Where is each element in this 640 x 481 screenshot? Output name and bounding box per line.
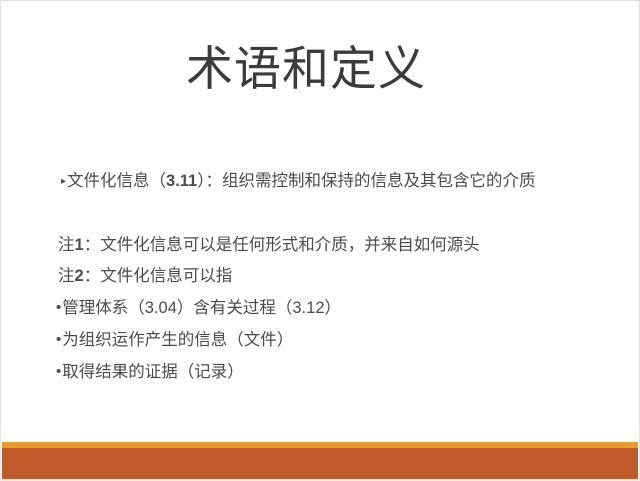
triangle-bullet-icon: ▸ (61, 176, 66, 187)
note-2-text: 文件化信息可以指 (100, 267, 232, 285)
sub-bullet-line-2: •为组织运作产生的信息（文件） (56, 332, 293, 349)
sub-bullet-1-text: 管理体系（3.04）含有关过程（3.12） (62, 299, 341, 317)
note-1-label-prefix: 注 (58, 236, 75, 254)
note-1-label-suffix: ： (84, 236, 101, 254)
note-1-number: 1 (75, 236, 84, 254)
note-line-2: 注2：文件化信息可以指 (57, 268, 232, 285)
footer-accent-band-dark (2, 448, 638, 479)
slide-canvas: 术语和定义 ▸文件化信息（3.11）：组织需控制和保持的信息及其包含它的介质 注… (0, 0, 640, 481)
dot-bullet-icon: • (56, 299, 61, 316)
note-1-text: 文件化信息可以是任何形式和介质，并来自如何源头 (100, 236, 480, 254)
note-2-label-prefix: 注 (58, 267, 75, 285)
sub-bullet-line-3: •取得结果的证据（记录） (56, 364, 244, 381)
main-bullet-text-before: 文件化信息（ (67, 172, 166, 190)
sub-bullet-line-1: •管理体系（3.04）含有关过程（3.12） (56, 300, 341, 317)
sub-bullet-2-text: 为组织运作产生的信息（文件） (62, 331, 293, 349)
page-title: 术语和定义 (186, 44, 426, 93)
dot-bullet-icon: • (56, 363, 61, 380)
main-bullet-clause-reference: 3.11 (166, 172, 197, 190)
dot-bullet-icon: • (56, 331, 61, 348)
note-2-number: 2 (75, 267, 84, 285)
main-bullet-text-after: ）：组织需控制和保持的信息及其包含它的介质 (197, 172, 535, 190)
sub-bullet-3-text: 取得结果的证据（记录） (62, 363, 244, 381)
slide-title-area: 术语和定义 (1, 29, 639, 109)
note-2-label-suffix: ： (84, 267, 101, 285)
note-line-1: 注1：文件化信息可以是任何形式和介质，并来自如何源头 (57, 237, 480, 254)
main-bullet-line: ▸文件化信息（3.11）：组织需控制和保持的信息及其包含它的介质 (59, 173, 536, 190)
